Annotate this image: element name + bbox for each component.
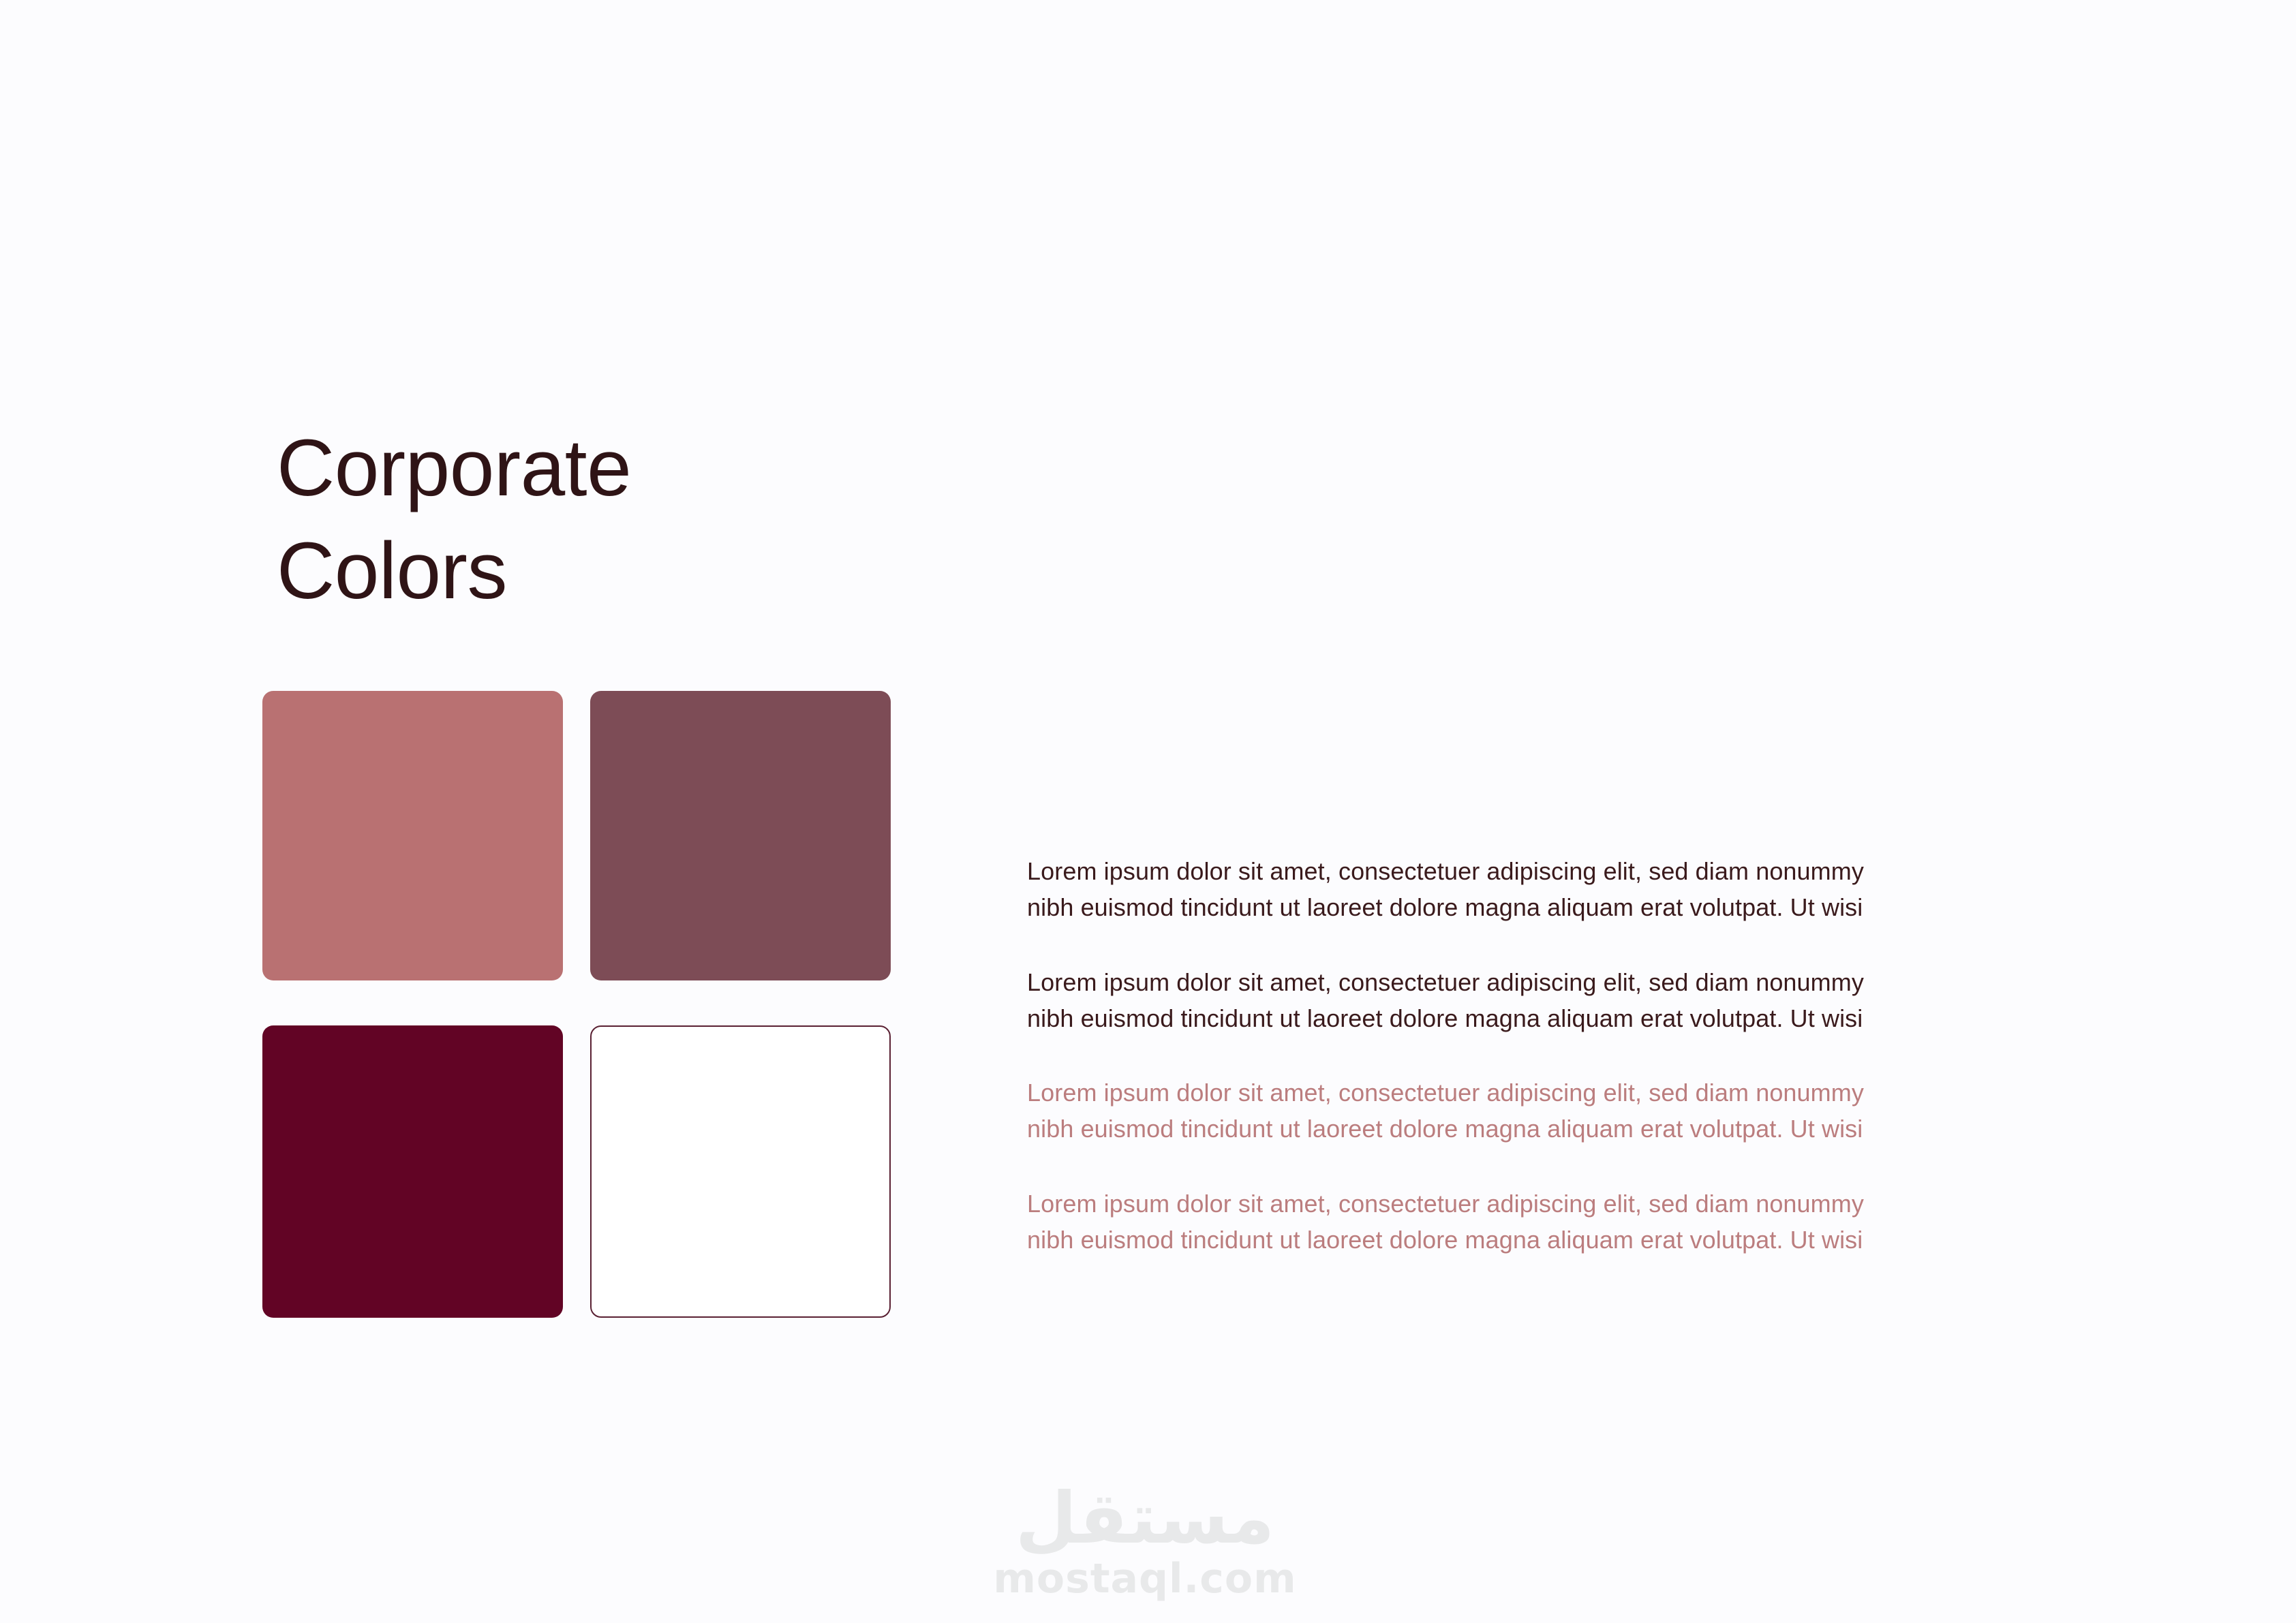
description-block: Lorem ipsum dolor sit amet, consectetuer… [1027,853,1903,1258]
watermark-domain-text: mostaql.com [993,1555,1296,1603]
watermark-arabic-text: مستقل [1015,1477,1274,1560]
description-paragraph-2: Lorem ipsum dolor sit amet, consectetuer… [1027,964,1903,1037]
color-swatch-mauve-plum[interactable] [590,691,891,980]
color-swatch-deep-burgundy[interactable] [262,1025,563,1318]
page-title: Corporate Colors [277,417,958,623]
color-swatch-white[interactable] [590,1025,891,1318]
slide-canvas: Corporate Colors Lorem ipsum dolor sit a… [0,0,2296,1623]
description-paragraph-4: Lorem ipsum dolor sit amet, consectetuer… [1027,1186,1903,1258]
color-swatch-grid [262,691,891,1318]
mostaql-watermark: مستقل mostaql.com [992,1466,1298,1603]
description-paragraph-1: Lorem ipsum dolor sit amet, consectetuer… [1027,853,1903,926]
color-swatch-dusty-rose[interactable] [262,691,563,980]
description-paragraph-3: Lorem ipsum dolor sit amet, consectetuer… [1027,1075,1903,1147]
